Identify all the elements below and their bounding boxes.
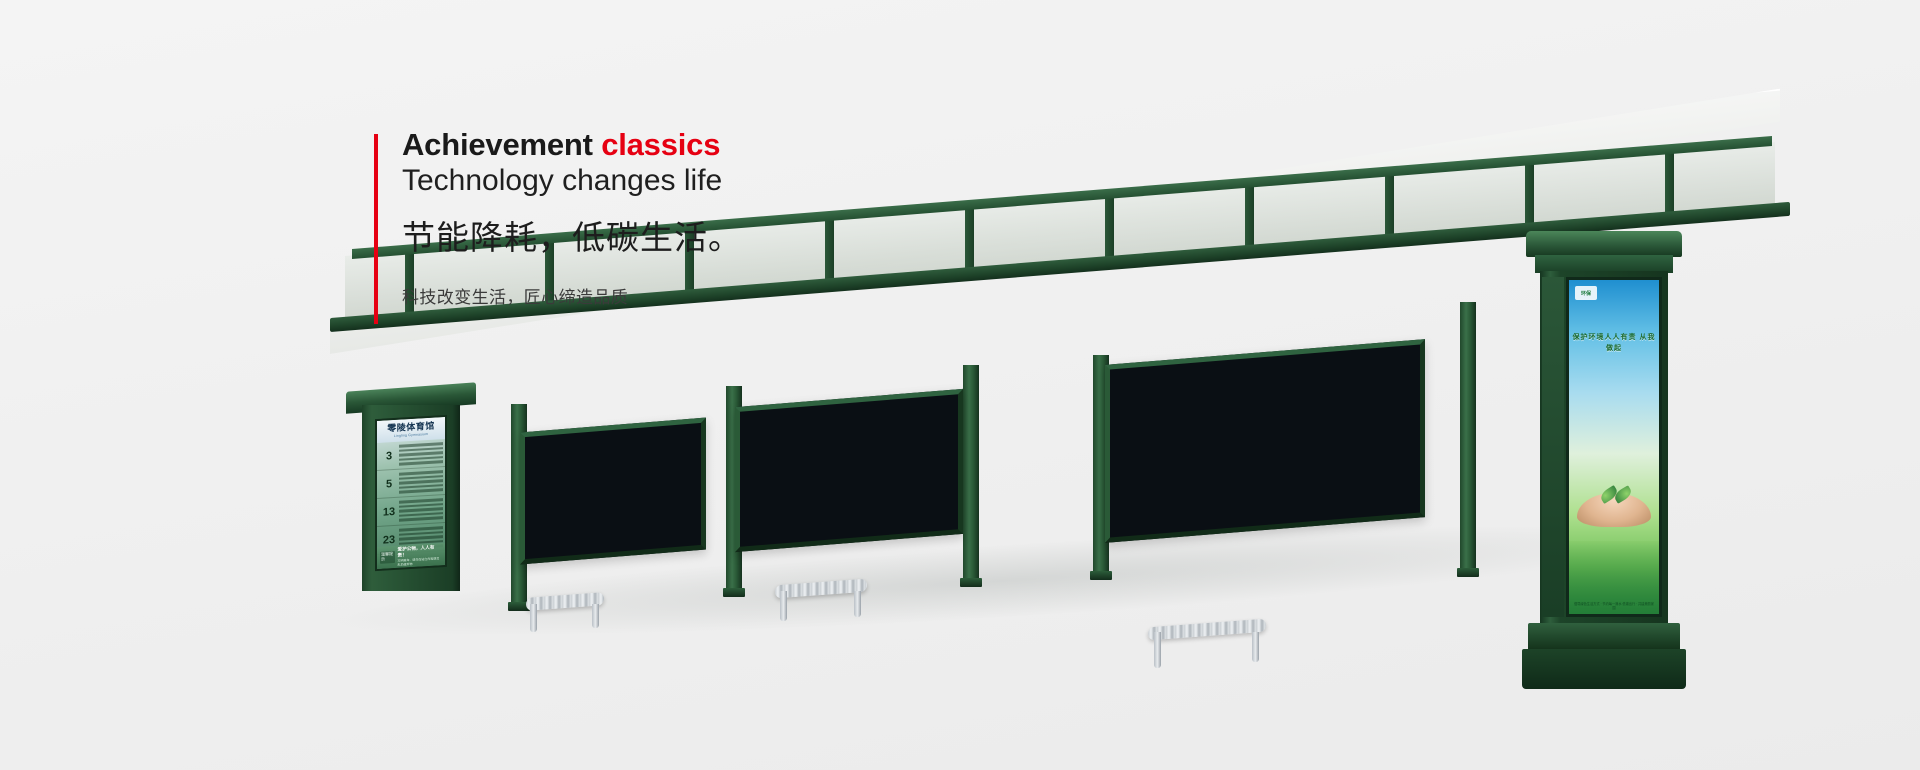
ad-wildlife-artwork: 水，是我们赖以生存的宝贵资源…… [740, 394, 958, 412]
totem-plinth [1522, 649, 1686, 689]
sprout-stem [1264, 357, 1267, 370]
support-post [963, 365, 979, 580]
timetable-row: 5 [377, 467, 445, 499]
totem-screen[interactable]: 环保 保护环境人人有责 从我做起 倡导绿色生活方式 · 节约每一滴水 低碳出行 … [1566, 277, 1662, 617]
ad-panel-water[interactable]: 水 人类赖以生存的生命之源 [1105, 339, 1425, 543]
deer-silhouette [923, 394, 941, 397]
route-stop-bars [399, 442, 445, 465]
support-post [1460, 302, 1476, 570]
canopy-rib [1245, 184, 1254, 251]
bus-shelter-scene: 零陵体育馆 Lingling Gymnasium 3 5 [0, 0, 1920, 770]
bubble [564, 433, 572, 437]
totem-cap [1526, 231, 1682, 257]
camel-silhouette [818, 394, 844, 405]
cactus [1129, 346, 1134, 368]
timetable-rows: 3 5 [377, 439, 445, 555]
bubble [553, 434, 566, 437]
giraffe-silhouette [771, 394, 791, 409]
ad-water-artwork: 水 人类赖以生存的生命之源 [1110, 345, 1420, 370]
tree-branch [596, 423, 614, 432]
route-stop-bars [399, 498, 445, 521]
elephant-silhouette [862, 394, 869, 402]
timetable-row: 3 [377, 439, 445, 471]
route-number: 5 [379, 477, 399, 490]
timetable-display[interactable]: 零陵体育馆 Lingling Gymnasium 3 5 [375, 415, 447, 571]
totem-footer-text: 倡导绿色生活方式 · 节约每一滴水 低碳出行 · 共建美丽家园 [1573, 602, 1655, 611]
support-post-base [1090, 571, 1112, 580]
bench-leg [854, 591, 861, 617]
sprout-leaf [1245, 352, 1273, 369]
bench-leg [530, 604, 537, 632]
ad-panel-hearts[interactable]: 爱 5 和谐 [520, 418, 706, 565]
headline-line-2: Technology changes life [402, 162, 894, 200]
ad-water-title: 水 [1127, 366, 1151, 369]
bird-silhouette [1339, 350, 1355, 357]
giraffe-silhouette [788, 394, 792, 408]
caption-tail: 和谐 [574, 423, 608, 433]
ad-panel-wildlife[interactable]: 水，是我们赖以生存的宝贵资源…… [735, 389, 963, 552]
giraffe-silhouette [775, 394, 781, 409]
support-post-base [960, 578, 982, 587]
camel-silhouette [818, 394, 822, 405]
headline-line-4: 科技改变生活，匠心缔造品质 [402, 283, 894, 308]
heart-shape [570, 428, 601, 437]
headline-line-1-main: Achievement [402, 127, 601, 162]
route-stop-bars [399, 470, 445, 493]
bench-leg [1252, 632, 1259, 662]
canopy-rib [1665, 150, 1674, 217]
earth-globe [1243, 350, 1355, 370]
heart-shape [637, 423, 665, 437]
ad-water-subtitle: 人类赖以生存的生命之源 [1127, 360, 1232, 370]
timetable-row: 13 [377, 495, 445, 527]
caption-main: 爱 [539, 423, 556, 436]
bench-leg [592, 604, 599, 628]
heart-shape [589, 428, 612, 437]
route-number: 23 [379, 533, 399, 546]
bubble [627, 428, 637, 437]
totem-headline: 保护环境人人有责 从我做起 [1569, 333, 1659, 354]
ad-hearts-artwork: 爱 5 和谐 [525, 423, 701, 437]
support-post-base [1457, 568, 1479, 577]
station-name-en: Lingling Gymnasium [394, 432, 428, 438]
footer-subtext: 文明乘车 · 请勿在站台内吸烟及乱扔废弃物 [398, 556, 442, 567]
heart-shape [602, 424, 639, 437]
canopy-rib [1525, 161, 1534, 228]
canopy-rib [1385, 173, 1394, 240]
elephant-silhouette [862, 394, 906, 402]
vertical-lightbox-totem[interactable]: 环保 保护环境人人有责 从我做起 倡导绿色生活方式 · 节约每一滴水 低碳出行 … [1540, 231, 1668, 693]
stop-bar [399, 488, 443, 493]
tree-trunk [608, 430, 615, 431]
canopy-rib [965, 206, 974, 273]
headline-line-1: Achievement classics [402, 128, 894, 163]
bench-leg [1154, 632, 1161, 668]
heart-shape [631, 425, 651, 437]
timetable-footer: 温馨提示 爱护公物，人人有责！ 文明乘车 · 请勿在站台内吸烟及乱扔废弃物 [377, 543, 445, 569]
headline-block: Achievement classics Technology changes … [374, 128, 894, 308]
cactus [1124, 364, 1133, 369]
totem-foot [1528, 623, 1680, 651]
desert-dune [1110, 345, 1420, 370]
bubble [659, 426, 668, 436]
tree-branch [609, 423, 616, 430]
route-number: 13 [379, 505, 399, 518]
footer-tag: 温馨提示 [380, 551, 395, 563]
stop-bar [399, 516, 443, 521]
wildlife-ground [740, 394, 958, 412]
bench-seat [1148, 619, 1266, 641]
headline-line-3: 节能降耗，低碳生活。 [402, 215, 894, 261]
globe-ring [1215, 345, 1386, 370]
support-post-base [723, 588, 745, 597]
bench-leg [780, 591, 787, 621]
ad-hearts-caption: 爱 5 和谐 [539, 423, 608, 436]
bird-silhouette [1321, 352, 1333, 359]
bird-silhouette [1377, 346, 1399, 354]
elephant-silhouette [897, 394, 904, 399]
giraffe-silhouette [773, 395, 777, 409]
timetable-kiosk[interactable]: 零陵体育馆 Lingling Gymnasium 3 5 [362, 401, 460, 593]
sprout-leaf [1269, 350, 1297, 370]
headline-accent-rule [374, 134, 378, 324]
stop-bar [399, 460, 443, 465]
brand-logo-icon: 环保 [1575, 286, 1597, 300]
bubble [673, 424, 684, 436]
headline-line-1-accent: classics [601, 127, 720, 162]
caption-number: 5 [561, 423, 569, 432]
ad-wildlife-caption: 水，是我们赖以生存的宝贵资源…… [766, 401, 872, 412]
canopy-rib [1105, 195, 1114, 262]
camel-silhouette [798, 395, 802, 407]
route-number: 3 [379, 449, 399, 462]
totem-side-panel [1542, 277, 1564, 617]
tree-branch [609, 423, 627, 430]
